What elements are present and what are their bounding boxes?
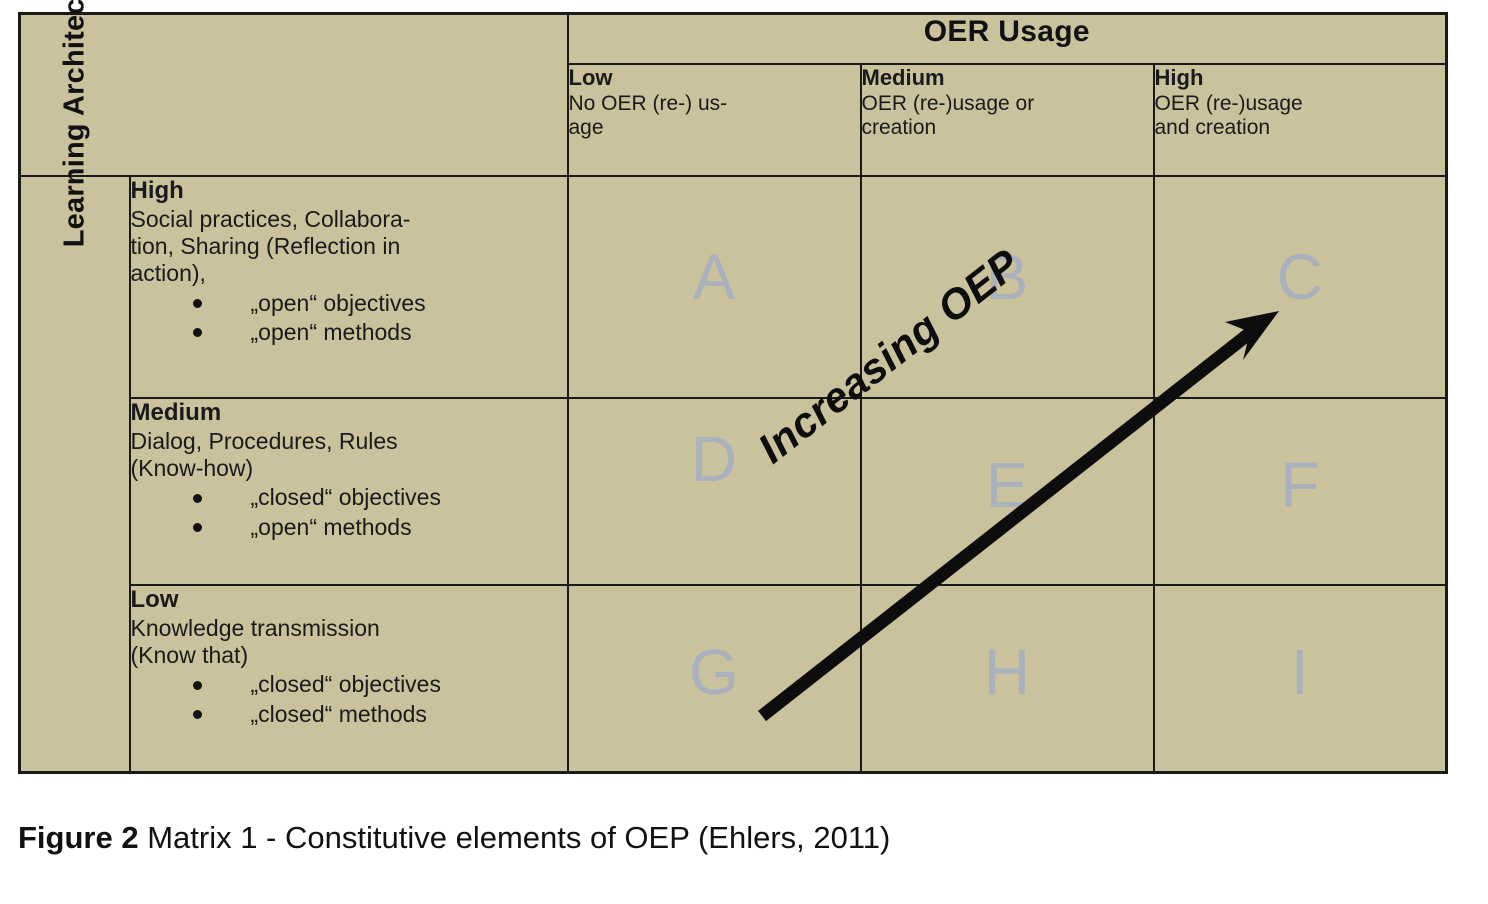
matrix-table-container: OER Usage Low No OER (re-) us- age Mediu… — [18, 12, 1446, 774]
row-descriptor-medium: Medium Dialog, Procedures, Rules (Know-h… — [130, 398, 568, 585]
bullet-dot-icon — [193, 299, 202, 308]
cell-letter-e: E — [986, 453, 1029, 517]
matrix-cell-e[interactable]: E — [861, 398, 1154, 585]
row-descriptor-high-line1: Social practices, Collabora- — [131, 206, 567, 233]
cell-letter-i: I — [1291, 640, 1309, 704]
list-item: „closed“ methods — [131, 700, 567, 729]
bullet-text: „open“ objectives — [251, 290, 426, 316]
matrix-cell-c[interactable]: C — [1154, 176, 1447, 398]
cell-letter-a: A — [693, 245, 736, 309]
bullet-dot-icon — [193, 494, 202, 503]
cell-letter-g: G — [689, 640, 739, 704]
bullet-text: „open“ methods — [251, 319, 412, 345]
row-axis-title-cell: Learning Architecture — [20, 176, 130, 773]
list-item: „closed“ objectives — [131, 483, 567, 512]
row-descriptor-low-bullets: „closed“ objectives „closed“ methods — [131, 670, 567, 728]
list-item: „open“ methods — [131, 513, 567, 542]
corner-blank-cell — [20, 14, 568, 177]
bullet-text: „open“ methods — [251, 514, 412, 540]
bullet-dot-icon — [193, 328, 202, 337]
column-header-high-desc-line1: OER (re-)usage — [1155, 92, 1446, 116]
column-header-high-desc-line2: and creation — [1155, 116, 1446, 140]
row-descriptor-high: High Social practices, Collabora- tion, … — [130, 176, 568, 398]
column-header-low-desc-line1: No OER (re-) us- — [569, 92, 860, 116]
matrix-cell-f[interactable]: F — [1154, 398, 1447, 585]
figure-caption: Figure 2 Matrix 1 - Constitutive element… — [18, 820, 890, 856]
row-descriptor-low: Low Knowledge transmission (Know that) „… — [130, 585, 568, 772]
row-descriptor-medium-line1: Dialog, Procedures, Rules — [131, 428, 567, 455]
cell-letter-c: C — [1277, 245, 1323, 309]
column-header-high-level: High — [1155, 65, 1446, 91]
cell-letter-h: H — [984, 640, 1030, 704]
list-item: „closed“ objectives — [131, 670, 567, 699]
row-descriptor-medium-bullets: „closed“ objectives „open“ methods — [131, 483, 567, 541]
row-descriptor-low-line2: (Know that) — [131, 642, 567, 669]
bullet-dot-icon — [193, 681, 202, 690]
matrix-cell-g[interactable]: G — [568, 585, 861, 772]
list-item: „open“ objectives — [131, 289, 567, 318]
bullet-text: „closed“ objectives — [251, 484, 441, 510]
matrix-cell-a[interactable]: A — [568, 176, 861, 398]
column-header-low: Low No OER (re-) us- age — [568, 64, 861, 176]
row-descriptor-high-level: High — [131, 177, 567, 206]
bullet-text: „closed“ methods — [251, 701, 427, 727]
figure-2-oep-matrix: OER Usage Low No OER (re-) us- age Mediu… — [0, 0, 1488, 904]
column-header-medium: Medium OER (re-)usage or creation — [861, 64, 1154, 176]
row-axis-title: Learning Architecture — [58, 140, 91, 248]
list-item: „open“ methods — [131, 318, 567, 347]
figure-caption-label: Figure 2 — [18, 820, 139, 855]
cell-letter-d: D — [691, 427, 737, 491]
matrix-cell-i[interactable]: I — [1154, 585, 1447, 772]
column-header-medium-desc-line1: OER (re-)usage or — [862, 92, 1153, 116]
matrix-row-medium: Medium Dialog, Procedures, Rules (Know-h… — [20, 398, 1447, 585]
figure-caption-text: Matrix 1 - Constitutive elements of OEP … — [139, 820, 891, 855]
matrix-row-high: Learning Architecture High Social practi… — [20, 176, 1447, 398]
column-header-medium-level: Medium — [862, 65, 1153, 91]
bullet-text: „closed“ objectives — [251, 671, 441, 697]
bullet-dot-icon — [193, 523, 202, 532]
row-descriptor-low-level: Low — [131, 586, 567, 615]
row-descriptor-high-line2: tion, Sharing (Reflection in — [131, 233, 567, 260]
matrix-row-low: Low Knowledge transmission (Know that) „… — [20, 585, 1447, 772]
column-header-low-level: Low — [569, 65, 860, 91]
row-descriptor-low-line1: Knowledge transmission — [131, 615, 567, 642]
matrix-cell-h[interactable]: H — [861, 585, 1154, 772]
column-header-low-desc-line2: age — [569, 116, 860, 140]
row-descriptor-medium-line2: (Know-how) — [131, 455, 567, 482]
cell-letter-f: F — [1280, 453, 1319, 517]
oep-matrix-table: OER Usage Low No OER (re-) us- age Mediu… — [18, 12, 1448, 774]
row-descriptor-high-line3: action), — [131, 260, 567, 287]
row-descriptor-medium-level: Medium — [131, 399, 567, 428]
bullet-dot-icon — [193, 710, 202, 719]
column-axis-title: OER Usage — [568, 14, 1447, 65]
header-row-axis-title: OER Usage — [20, 14, 1447, 65]
column-header-high: High OER (re-)usage and creation — [1154, 64, 1447, 176]
column-header-medium-desc-line2: creation — [862, 116, 1153, 140]
row-descriptor-high-bullets: „open“ objectives „open“ methods — [131, 289, 567, 347]
